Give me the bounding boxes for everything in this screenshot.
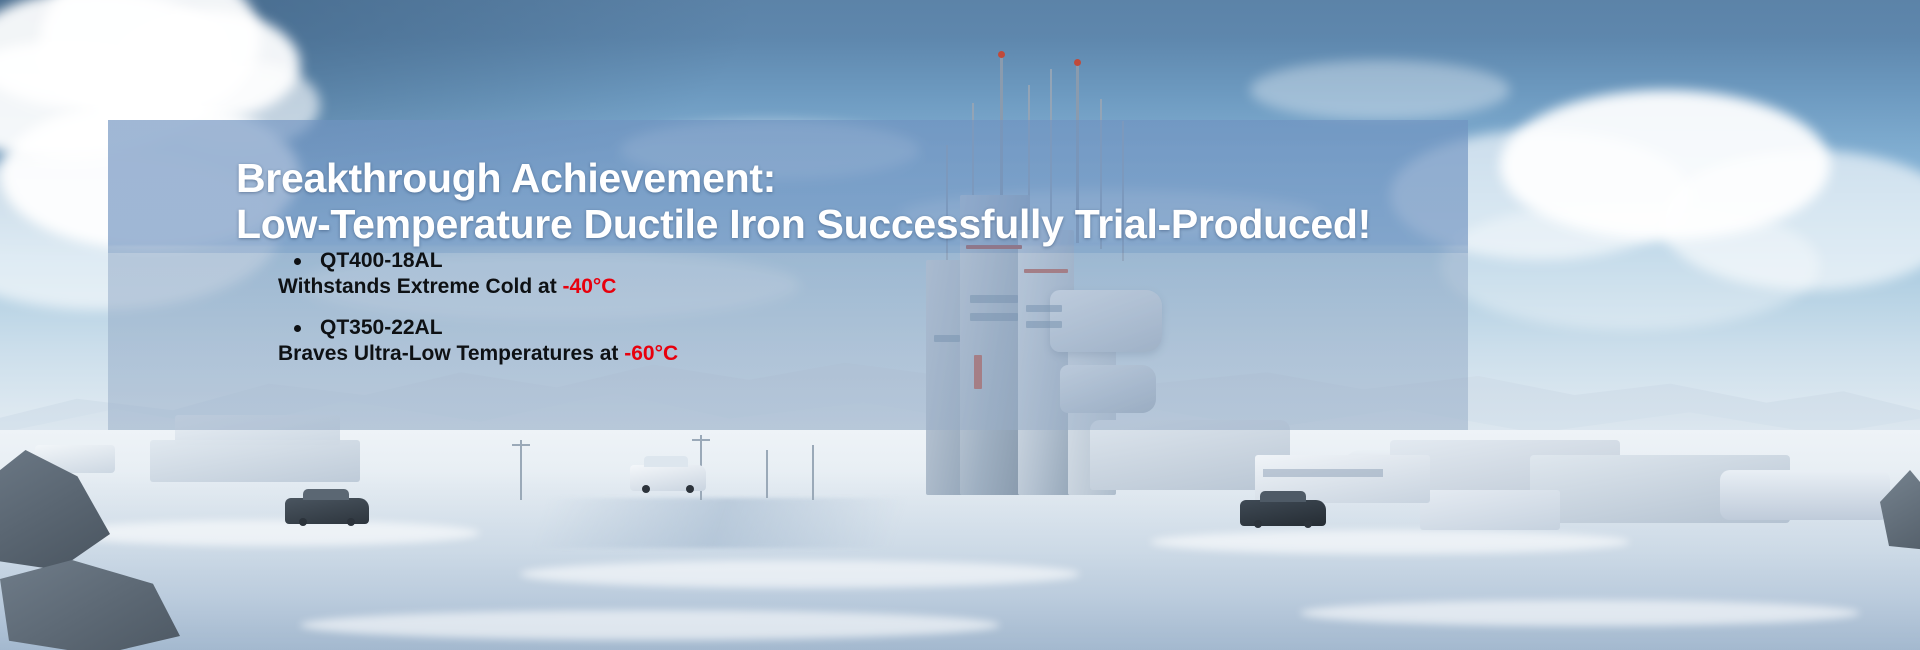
bullet-description: Withstands Extreme Cold at -40°C	[278, 276, 678, 297]
snow-drift	[300, 610, 1000, 640]
utility-pole-crossarm	[692, 439, 710, 441]
utility-pole	[812, 445, 814, 500]
vehicle-car	[1240, 500, 1326, 526]
utility-pole	[520, 440, 522, 500]
utility-pole-crossarm	[512, 444, 530, 446]
bullet-grade-label: QT400-18AL	[320, 249, 443, 272]
bullet-grade-qt350: QT350-22AL	[278, 317, 678, 338]
vehicle-suv	[630, 465, 706, 491]
snow-drift	[60, 520, 480, 546]
bullet-description: Braves Ultra-Low Temperatures at -60°C	[278, 343, 678, 364]
ground-building-small	[1420, 490, 1560, 530]
bullet-grade-label: QT350-22AL	[320, 316, 443, 339]
promotional-banner: Breakthrough Achievement: Low-Temperatur…	[0, 0, 1920, 650]
banner-headline: Breakthrough Achievement: Low-Temperatur…	[236, 156, 1371, 248]
bullet-grade-qt400: QT400-18AL	[278, 250, 678, 271]
antenna-beacon-icon	[1074, 59, 1081, 66]
snow-drift	[1150, 530, 1630, 554]
snow-vehicle-tracks	[532, 498, 908, 548]
bullet-temperature-value: -60°C	[624, 342, 678, 365]
bullet-description-text: Withstands Extreme Cold at	[278, 275, 563, 298]
utility-pole	[766, 450, 768, 498]
bullet-item: QT350-22AL Braves Ultra-Low Temperatures…	[278, 317, 678, 364]
bullet-dot-icon	[294, 258, 301, 265]
cloud-shape	[1250, 60, 1510, 120]
headline-line-2: Low-Temperature Ductile Iron Successfull…	[236, 202, 1371, 248]
headline-line-1: Breakthrough Achievement:	[236, 156, 1371, 202]
cloud-shape	[1440, 200, 1820, 330]
snow-drift	[520, 560, 1080, 588]
product-bullet-list: QT400-18AL Withstands Extreme Cold at -4…	[278, 250, 678, 384]
bullet-temperature-value: -40°C	[563, 275, 617, 298]
vehicle-car	[285, 498, 369, 524]
left-building-lower	[150, 440, 360, 482]
text-overlay-panel: Breakthrough Achievement: Low-Temperatur…	[108, 120, 1468, 430]
bullet-description-text: Braves Ultra-Low Temperatures at	[278, 342, 624, 365]
bullet-dot-icon	[294, 325, 301, 332]
snow-drift	[1300, 600, 1860, 626]
bullet-item: QT400-18AL Withstands Extreme Cold at -4…	[278, 250, 678, 297]
ground-storage-tank	[1720, 470, 1890, 520]
antenna-beacon-icon	[998, 51, 1005, 58]
